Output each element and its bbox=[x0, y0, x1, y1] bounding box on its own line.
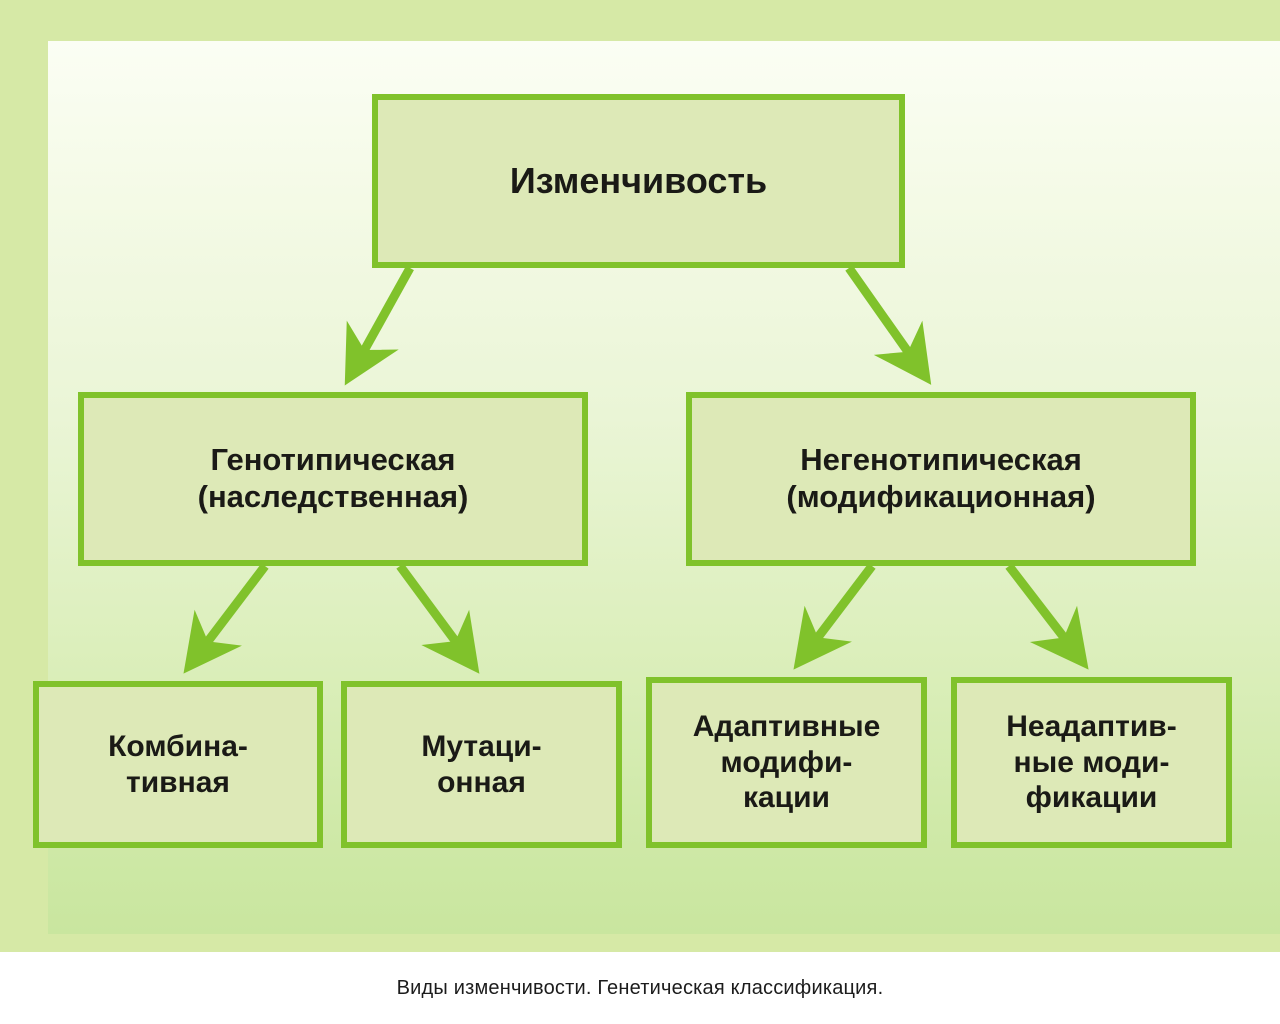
node-nonadaptive-modifications-label: Неадаптив- ные моди- фикации bbox=[1000, 709, 1182, 815]
arrow-nongenotypic-to-nonadaptive bbox=[1009, 566, 1082, 661]
node-variability[interactable]: Изменчивость bbox=[372, 94, 905, 268]
node-combinative[interactable]: Комбина- тивная bbox=[33, 681, 323, 848]
figure-caption: Виды изменчивости. Генетическая классифи… bbox=[0, 952, 1280, 1024]
node-genotypic[interactable]: Генотипическая (наследственная) bbox=[78, 392, 588, 566]
node-adaptive-modifications-label: Адаптивные модифи- кации bbox=[687, 709, 887, 815]
node-nongenotypic[interactable]: Негенотипическая (модификационная) bbox=[686, 392, 1196, 566]
node-variability-label: Изменчивость bbox=[504, 160, 773, 202]
arrow-nongenotypic-to-adaptive bbox=[800, 566, 872, 661]
slide-root: Изменчивость Генотипическая (наследствен… bbox=[0, 0, 1280, 1024]
arrow-root-to-genotypic bbox=[350, 268, 410, 376]
node-combinative-label: Комбина- тивная bbox=[102, 729, 254, 800]
node-genotypic-label: Генотипическая (наследственная) bbox=[192, 442, 475, 515]
variability-classification-diagram: Изменчивость Генотипическая (наследствен… bbox=[0, 0, 1280, 952]
node-adaptive-modifications[interactable]: Адаптивные модифи- кации bbox=[646, 677, 927, 848]
node-mutational[interactable]: Мутаци- онная bbox=[341, 681, 622, 848]
arrow-root-to-nongenotypic bbox=[849, 268, 925, 376]
figure-caption-text: Виды изменчивости. Генетическая классифи… bbox=[397, 977, 884, 1000]
node-mutational-label: Мутаци- онная bbox=[415, 729, 547, 800]
arrow-genotypic-to-combinative bbox=[190, 566, 265, 665]
node-nonadaptive-modifications[interactable]: Неадаптив- ные моди- фикации bbox=[951, 677, 1232, 848]
node-nongenotypic-label: Негенотипическая (модификационная) bbox=[780, 442, 1101, 515]
slide-frame: Изменчивость Генотипическая (наследствен… bbox=[0, 0, 1280, 952]
arrow-genotypic-to-mutational bbox=[400, 566, 473, 665]
